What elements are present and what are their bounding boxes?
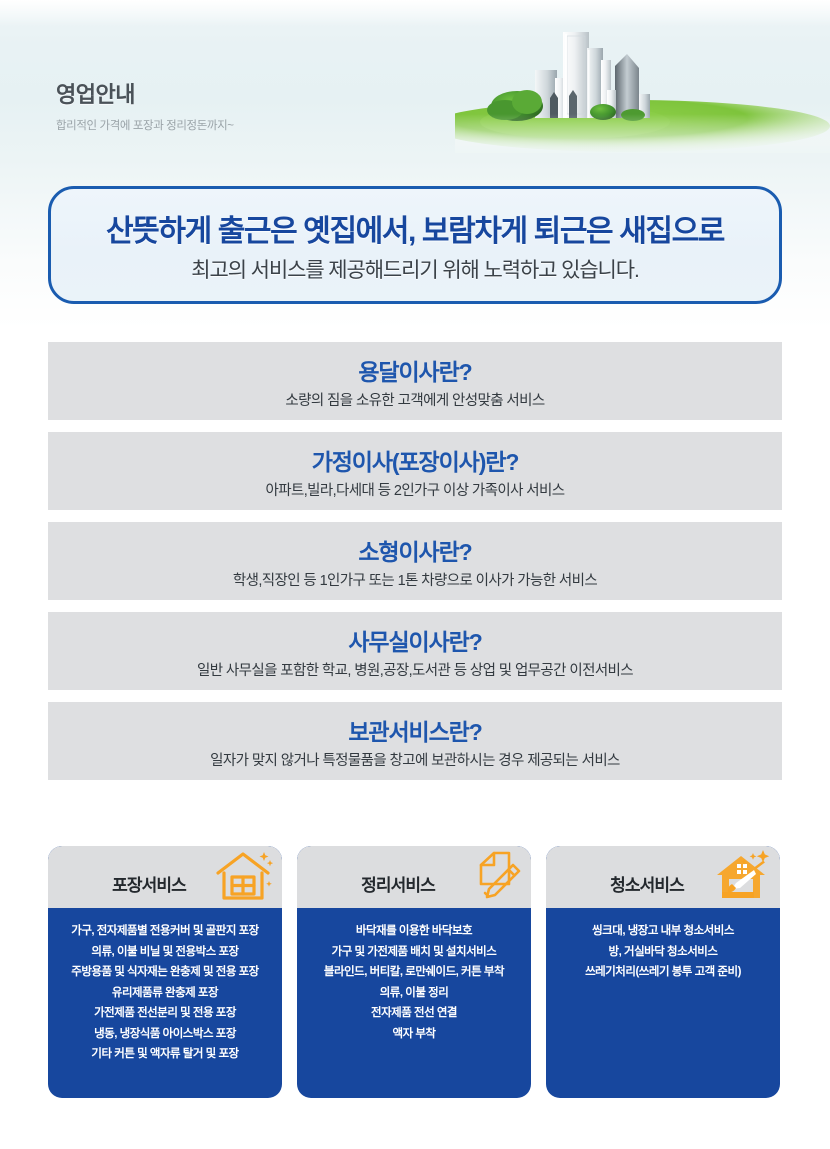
card-line: 의류, 이불 정리 <box>380 986 449 1002</box>
slogan-headline: 산뜻하게 출근은 옛집에서, 보람차게 퇴근은 새집으로 <box>106 206 724 250</box>
service-row: 용달이사란? 소량의 짐을 소유한 고객에게 안성맞춤 서비스 <box>48 342 782 420</box>
card-line: 냉동, 냉장식품 아이스박스 포장 <box>94 1027 236 1043</box>
service-description: 일반 사무실을 포함한 학교, 병원,공장,도서관 등 상업 및 업무공간 이전… <box>197 659 633 680</box>
card-packing-service: 포장서비스 <box>48 846 282 1098</box>
slogan-subtext: 최고의 서비스를 제공해드리기 위해 노력하고 있습니다. <box>191 254 638 284</box>
card-line: 가구, 전자제품별 전용커버 및 골판지 포장 <box>71 924 259 940</box>
service-row: 보관서비스란? 일자가 맞지 않거나 특정물품을 창고에 보관하시는 경우 제공… <box>48 702 782 780</box>
slogan-banner: 산뜻하게 출근은 옛집에서, 보람차게 퇴근은 새집으로 최고의 서비스를 제공… <box>48 186 782 304</box>
card-line: 주방용품 및 식자재는 완충제 및 전용 포장 <box>71 965 259 981</box>
card-line: 씽크대, 냉장고 내부 청소서비스 <box>592 924 734 940</box>
card-title: 청소서비스 <box>610 871 684 896</box>
page-title: 영업안내 <box>56 82 234 108</box>
service-question: 소형이사란? <box>358 533 471 567</box>
service-description: 학생,직장인 등 1인가구 또는 1톤 차량으로 이사가 가능한 서비스 <box>233 569 597 590</box>
house-broom-icon <box>710 848 772 906</box>
card-line: 유리제품류 완충제 포장 <box>112 986 218 1002</box>
card-title: 포장서비스 <box>112 871 186 896</box>
card-header: 정리서비스 <box>297 846 531 908</box>
card-line: 가구 및 가전제품 배치 및 설치서비스 <box>332 945 497 961</box>
card-line: 블라인드, 버티칼, 로만쉐이드, 커튼 부착 <box>324 965 504 981</box>
card-line: 가전제품 전선분리 및 전용 포장 <box>94 1006 236 1022</box>
service-description: 아파트,빌라,다세대 등 2인가구 이상 가족이사 서비스 <box>265 479 564 500</box>
service-row: 사무실이사란? 일반 사무실을 포함한 학교, 병원,공장,도서관 등 상업 및… <box>48 612 782 690</box>
header-title-block: 영업안내 합리적인 가격에 포장과 정리정돈까지~ <box>56 82 234 133</box>
card-line: 기타 커튼 및 액자류 탈거 및 포장 <box>91 1047 238 1063</box>
card-cleaning-service: 청소서비스 <box>546 846 780 1098</box>
card-body: 가구, 전자제품별 전용커버 및 골판지 포장 의류, 이불 비닐 및 전용박스… <box>48 908 282 1098</box>
cityscape-illustration <box>455 18 830 153</box>
page-subtitle: 합리적인 가격에 포장과 정리정돈까지~ <box>56 117 234 133</box>
service-row: 가정이사(포장이사)란? 아파트,빌라,다세대 등 2인가구 이상 가족이사 서… <box>48 432 782 510</box>
card-organizing-service: 정리서비스 바닥재를 이용한 바닥보호 가구 및 가전제품 배치 및 설치서비스… <box>297 846 531 1098</box>
service-question: 사무실이사란? <box>348 623 481 657</box>
service-definition-list: 용달이사란? 소량의 짐을 소유한 고객에게 안성맞춤 서비스 가정이사(포장이… <box>48 342 782 780</box>
card-header: 포장서비스 <box>48 846 282 908</box>
service-row: 소형이사란? 학생,직장인 등 1인가구 또는 1톤 차량으로 이사가 가능한 … <box>48 522 782 600</box>
card-header: 청소서비스 <box>546 846 780 908</box>
card-line: 쓰레기처리(쓰레기 봉투 고객 준비) <box>585 965 741 981</box>
house-window-icon <box>212 848 274 906</box>
card-line: 방, 거실바닥 청소서비스 <box>609 945 718 961</box>
card-body: 씽크대, 냉장고 내부 청소서비스 방, 거실바닥 청소서비스 쓰레기처리(쓰레… <box>546 908 780 1098</box>
service-question: 용달이사란? <box>358 353 471 387</box>
card-line: 액자 부착 <box>392 1027 435 1043</box>
service-description: 소량의 짐을 소유한 고객에게 안성맞춤 서비스 <box>285 389 544 410</box>
document-pencil-icon <box>461 848 523 906</box>
card-title: 정리서비스 <box>361 871 435 896</box>
card-line: 바닥재를 이용한 바닥보호 <box>356 924 472 940</box>
card-line: 전자제품 전선 연결 <box>371 1006 457 1022</box>
card-body: 바닥재를 이용한 바닥보호 가구 및 가전제품 배치 및 설치서비스 블라인드,… <box>297 908 531 1098</box>
service-question: 보관서비스란? <box>348 713 481 747</box>
service-description: 일자가 맞지 않거나 특정물품을 창고에 보관하시는 경우 제공되는 서비스 <box>210 749 620 770</box>
card-line: 의류, 이불 비닐 및 전용박스 포장 <box>91 945 238 961</box>
service-question: 가정이사(포장이사)란? <box>312 443 519 477</box>
service-cards: 포장서비스 <box>48 846 782 1098</box>
